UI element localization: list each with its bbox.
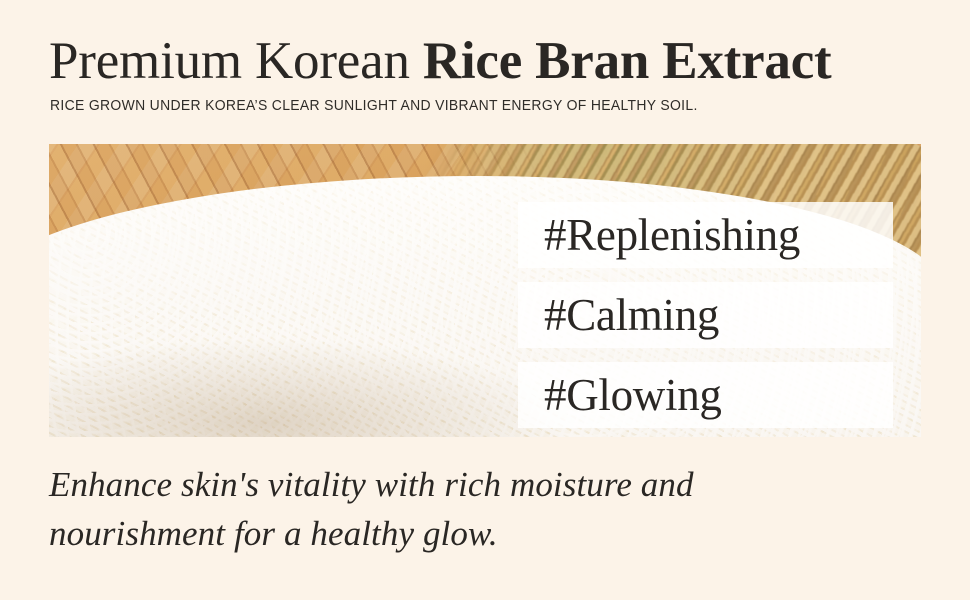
product-banner: Premium Korean Rice Bran Extract RICE GR… [0,0,970,600]
hashtag-band-glowing: #Glowing [518,362,893,428]
page-title: Premium Korean Rice Bran Extract [49,32,832,90]
tagline-line-2: nourishment for a healthy glow. [49,509,809,558]
tagline-line-1: Enhance skin's vitality with rich moistu… [49,460,809,509]
hashtag-label: #Replenishing [544,213,800,258]
hero-image: #Replenishing #Calming #Glowing [49,144,921,437]
hashtag-list: #Replenishing #Calming #Glowing [518,202,893,428]
hashtag-label: #Glowing [544,373,722,418]
page-subtitle: RICE GROWN UNDER KOREA’S CLEAR SUNLIGHT … [50,97,698,115]
tagline: Enhance skin's vitality with rich moistu… [49,460,809,558]
hashtag-label: #Calming [544,293,719,338]
hashtag-band-calming: #Calming [518,282,893,348]
title-light-part: Premium Korean [49,32,423,90]
hashtag-band-replenishing: #Replenishing [518,202,893,268]
title-bold-part: Rice Bran Extract [423,32,832,90]
